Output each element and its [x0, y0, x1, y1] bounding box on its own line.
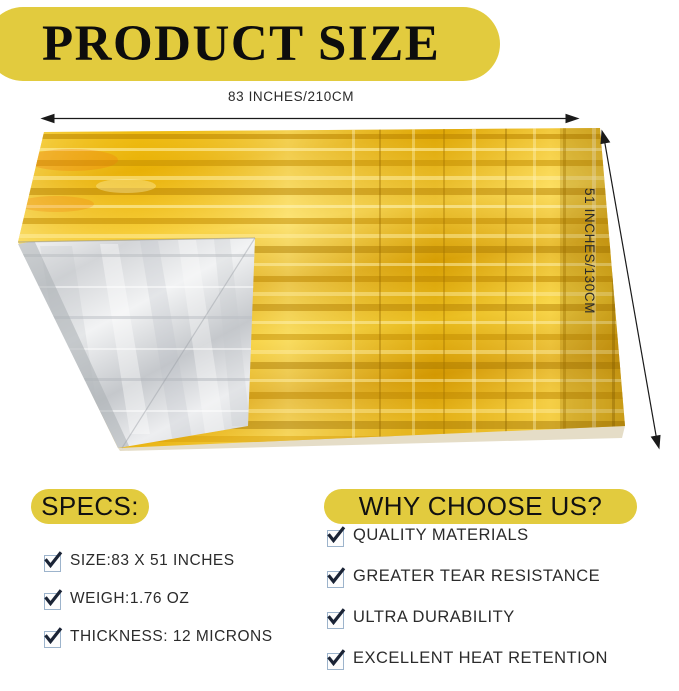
specs-list: SIZE:83 X 51 INCHES WEIGH:1.76 OZ THICKN…	[44, 552, 334, 666]
why-choose-us-list: QUALITY MATERIALS GREATER TEAR RESISTANC…	[327, 527, 672, 691]
list-item-label: THICKNESS: 12 MICRONS	[70, 628, 273, 645]
list-item-label: WEIGH:1.76 OZ	[70, 590, 189, 607]
specs-heading-pill: SPECS:	[31, 489, 149, 524]
specs-heading: SPECS:	[41, 491, 139, 522]
list-item: SIZE:83 X 51 INCHES	[44, 552, 334, 572]
checkbox-checked-icon	[44, 593, 61, 610]
checkbox-checked-icon	[44, 631, 61, 648]
checkbox-checked-icon	[44, 555, 61, 572]
why-choose-us-heading: WHY CHOOSE US?	[359, 491, 603, 522]
checkbox-checked-icon	[327, 530, 344, 547]
list-item-label: QUALITY MATERIALS	[353, 527, 529, 544]
why-choose-us-heading-pill: WHY CHOOSE US?	[324, 489, 637, 524]
blanket-illustration	[0, 126, 640, 451]
list-item-label: SIZE:83 X 51 INCHES	[70, 552, 235, 569]
height-dimension-label: 51 INCHES/130CM	[582, 188, 597, 358]
list-item-label: GREATER TEAR RESISTANCE	[353, 568, 600, 585]
list-item-label: ULTRA DURABILITY	[353, 609, 515, 626]
checkbox-checked-icon	[327, 653, 344, 670]
checkbox-checked-icon	[327, 571, 344, 588]
product-image	[0, 126, 640, 451]
width-dimension-label: 83 INCHES/210CM	[228, 89, 354, 104]
checkbox-checked-icon	[327, 612, 344, 629]
list-item: EXCELLENT HEAT RETENTION	[327, 650, 672, 670]
list-item: QUALITY MATERIALS	[327, 527, 672, 547]
list-item-label: EXCELLENT HEAT RETENTION	[353, 650, 608, 667]
double-arrow-horizontal-icon	[42, 115, 578, 123]
list-item: THICKNESS: 12 MICRONS	[44, 628, 334, 648]
list-item: WEIGH:1.76 OZ	[44, 590, 334, 610]
page-title: PRODUCT SIZE	[42, 14, 482, 74]
list-item: ULTRA DURABILITY	[327, 609, 672, 629]
list-item: GREATER TEAR RESISTANCE	[327, 568, 672, 588]
